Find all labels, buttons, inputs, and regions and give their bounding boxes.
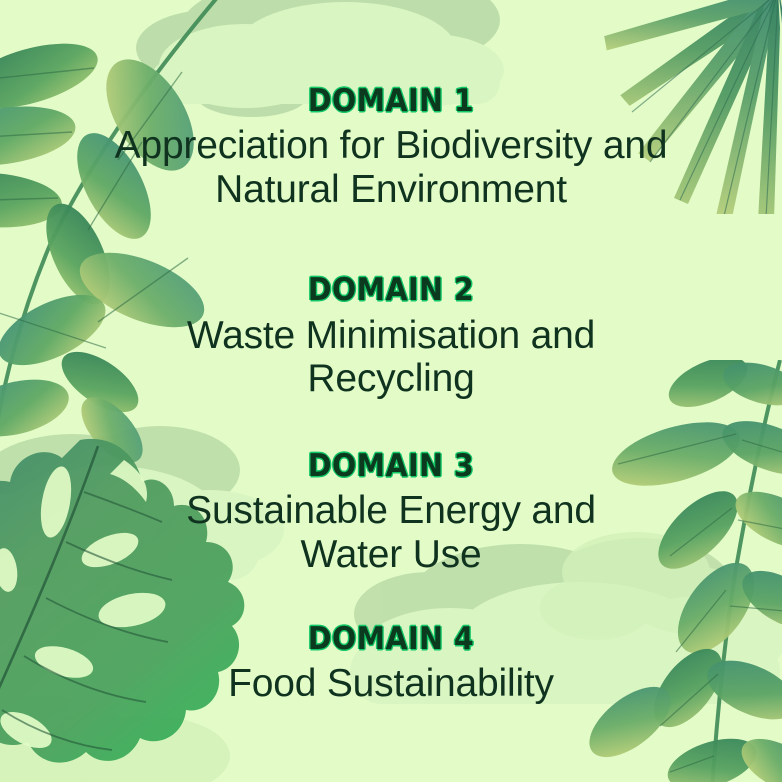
domain-4-body: Food Sustainability bbox=[71, 662, 711, 706]
domain-2-heading: DOMAIN 2 bbox=[97, 273, 686, 307]
domain-block-4: DOMAIN 4 Food Sustainability bbox=[71, 622, 711, 706]
domain-block-3: DOMAIN 3 Sustainable Energy and Water Us… bbox=[71, 449, 711, 576]
domain-3-heading: DOMAIN 3 bbox=[97, 449, 686, 483]
domain-4-heading: DOMAIN 4 bbox=[97, 622, 686, 656]
domain-3-body-line-1: Sustainable Energy and bbox=[71, 489, 711, 533]
domain-3-body: Sustainable Energy and Water Use bbox=[71, 489, 711, 576]
domain-4-body-line-1: Food Sustainability bbox=[71, 662, 711, 706]
domain-block-2: DOMAIN 2 Waste Minimisation and Recyclin… bbox=[71, 273, 711, 400]
domain-1-heading: DOMAIN 1 bbox=[97, 84, 686, 118]
domain-1-body-line-1: Appreciation for Biodiversity and bbox=[71, 124, 711, 168]
domain-1-body: Appreciation for Biodiversity and Natura… bbox=[71, 124, 711, 211]
domains-list: DOMAIN 1 Appreciation for Biodiversity a… bbox=[0, 0, 782, 782]
domain-block-1: DOMAIN 1 Appreciation for Biodiversity a… bbox=[71, 84, 711, 211]
domain-3-body-line-2: Water Use bbox=[71, 533, 711, 577]
domain-2-body-line-2: Recycling bbox=[71, 357, 711, 401]
domain-2-body: Waste Minimisation and Recycling bbox=[71, 314, 711, 401]
domain-1-body-line-2: Natural Environment bbox=[71, 168, 711, 212]
poster-canvas: DOMAIN 1 Appreciation for Biodiversity a… bbox=[0, 0, 782, 782]
domain-2-body-line-1: Waste Minimisation and bbox=[71, 314, 711, 358]
